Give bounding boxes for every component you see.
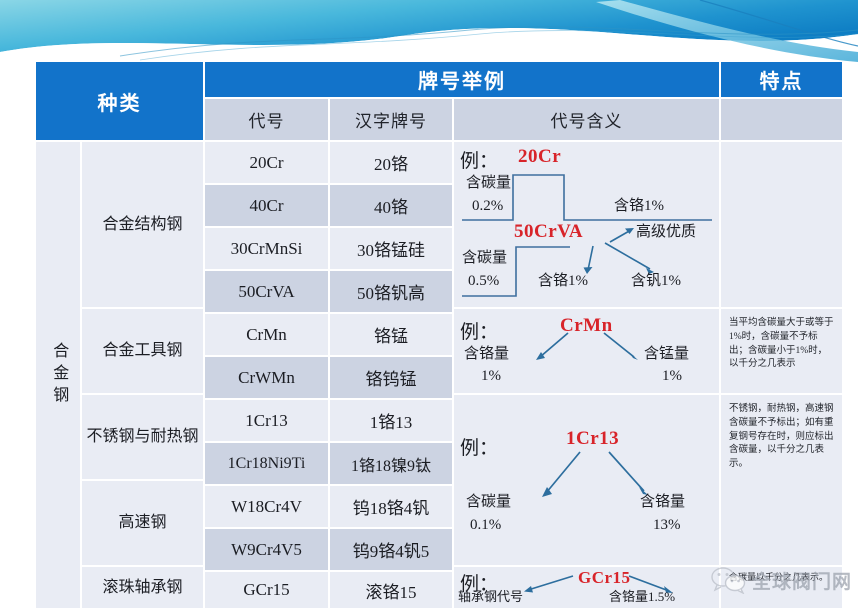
subheader-chinese-name: 汉字牌号: [330, 99, 452, 140]
group-label-text: 合金钢: [43, 342, 73, 408]
diagram1-grade-50crva: 50CrVA: [514, 221, 583, 243]
code-cell-6: 1Cr13: [205, 400, 328, 441]
diagram2-chromium-value: 1%: [481, 368, 501, 385]
code-cell-7: 1Cr18Ni9Ti: [205, 443, 328, 484]
diagram2-chromium-label: 含铬量: [464, 346, 509, 363]
subheader-code: 代号: [205, 99, 328, 140]
category-cell-1: 合金工具钢: [82, 309, 203, 393]
diagram-ball-bearing-steel: 例： GCr15 轴承钢代号 含铬量1.5%: [454, 567, 719, 608]
decorative-wave-banner: [0, 0, 858, 62]
steel-grade-table: 种类 牌号举例 特点 代号 汉字牌号 代号含义 合金钢 合金结构钢 合金工具钢 …: [36, 62, 842, 608]
chinese-cell-6: 1铬13: [330, 400, 452, 441]
feature-cell-1: 当平均含碳量大于或等于1%时，含碳量不予标出；含碳量小于1%时，以千分之几表示: [721, 309, 842, 393]
subheader-features-blank: [721, 99, 842, 140]
diagram1-vanadium-label: 含钒1%: [631, 273, 681, 290]
diagram1-carbon-label-b: 含碳量: [462, 250, 507, 267]
header-category: 种类: [36, 62, 203, 140]
code-cell-3: 50CrVA: [205, 271, 328, 312]
diagram3-chromium-value: 13%: [653, 517, 681, 534]
diagram1-carbon-value: 0.2%: [472, 198, 503, 215]
diagram3-chromium-label: 含铬量: [640, 494, 685, 511]
wechat-icon: [710, 566, 746, 594]
diagram4-grade-gcr15: GCr15: [578, 568, 631, 588]
watermark-text: 全球阀门网: [752, 567, 852, 594]
header-features: 特点: [721, 62, 842, 97]
diagram3-carbon-value: 0.1%: [470, 517, 501, 534]
category-cell-2: 不锈钢与耐热钢: [82, 395, 203, 479]
category-cell-2-text: 不锈钢与耐热钢: [86, 427, 198, 447]
code-cell-2: 30CrMnSi: [205, 228, 328, 269]
diagram4-bearing-code-label: 轴承钢代号: [458, 590, 523, 605]
code-cell-9: W9Cr4V5: [205, 529, 328, 570]
chinese-cell-9: 钨9铬4钒5: [330, 529, 452, 570]
code-cell-10: GCr15: [205, 572, 328, 608]
diagram2-example-prefix: 例：: [460, 317, 498, 344]
diagram4-chromium-label: 含铬量1.5%: [609, 590, 675, 605]
diagram1-example-prefix: 例：: [460, 146, 498, 173]
code-cell-5: CrWMn: [205, 357, 328, 398]
chinese-cell-5: 铬钨锰: [330, 357, 452, 398]
chinese-cell-3: 50铬钒高: [330, 271, 452, 312]
diagram3-example-prefix: 例：: [460, 433, 498, 460]
chinese-cell-10: 滚铬15: [330, 572, 452, 608]
chinese-cell-7: 1铬18镍9钛: [330, 443, 452, 484]
chinese-cell-4: 铬锰: [330, 314, 452, 355]
chinese-cell-2: 30铬锰硅: [330, 228, 452, 269]
diagram1-grade-20cr: 20Cr: [518, 146, 561, 168]
diagram1-chromium-label-b: 含铬1%: [538, 273, 588, 290]
code-cell-0: 20Cr: [205, 142, 328, 183]
category-cell-4: 滚珠轴承钢: [82, 567, 203, 608]
diagram2-manganese-value: 1%: [662, 368, 682, 385]
header-grade-examples: 牌号举例: [205, 62, 719, 97]
diagram3-carbon-label: 含碳量: [466, 494, 511, 511]
group-label-alloy-steel: 合金钢: [36, 142, 80, 608]
chinese-cell-1: 40铬: [330, 185, 452, 226]
category-cell-3: 高速钢: [82, 481, 203, 565]
diagram-alloy-structural-steel: 例： 20Cr 含碳量 0.2% 含铬1% 50CrVA 高级优质 含碳量 0.…: [454, 142, 719, 307]
category-cell-0: 合金结构钢: [82, 142, 203, 307]
diagram2-manganese-label: 含锰量: [644, 346, 689, 363]
diagram-alloy-tool-steel: 例： CrMn 含铬量 1% 含锰量 1%: [454, 309, 719, 393]
feature-cell-0: [721, 142, 842, 307]
code-cell-8: W18Cr4V: [205, 486, 328, 527]
feature-cell-2: 不锈钢，耐热钢，高速钢含碳量不予标出；如有重复钢号存在时，则应标出含碳量，以千分…: [721, 395, 842, 565]
diagram3-grade-1cr13: 1Cr13: [566, 428, 619, 450]
diagram1-carbon-label: 含碳量: [466, 175, 511, 192]
diagram2-grade-crmn: CrMn: [560, 315, 613, 337]
code-cell-4: CrMn: [205, 314, 328, 355]
chinese-cell-0: 20铬: [330, 142, 452, 183]
diagram1-carbon-value-b: 0.5%: [468, 273, 499, 290]
diagram-stainless-and-highspeed-steel: 例： 1Cr13 含碳量 0.1% 含铬量 13%: [454, 395, 719, 565]
diagram1-premium-label: 高级优质: [636, 224, 696, 241]
watermark: 全球阀门网: [710, 566, 852, 594]
diagram1-chromium-label: 含铬1%: [614, 198, 664, 215]
code-cell-1: 40Cr: [205, 185, 328, 226]
chinese-cell-8: 钨18铬4钒: [330, 486, 452, 527]
subheader-code-meaning: 代号含义: [454, 99, 719, 140]
